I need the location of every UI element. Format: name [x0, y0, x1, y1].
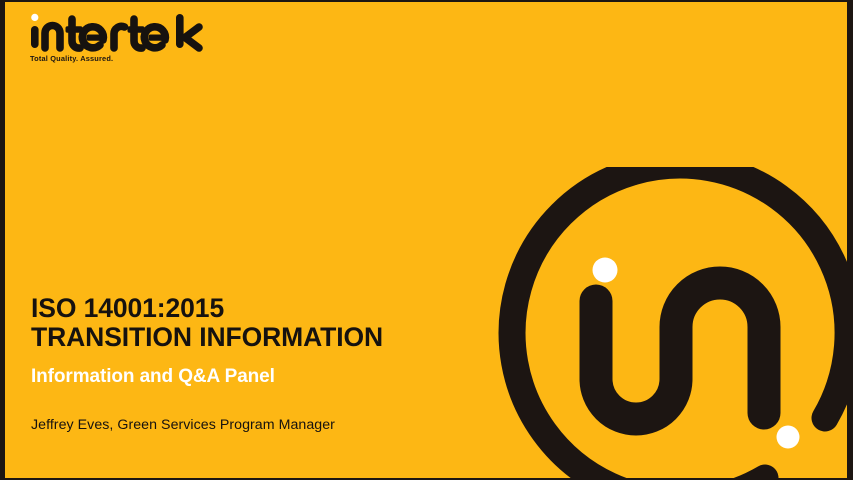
slide-presenter: Jeffrey Eves, Green Services Program Man… [31, 417, 335, 433]
circle-ring [512, 167, 848, 480]
monogram-in [596, 283, 764, 419]
presentation-slide: Total Quality. Assured. ISO 14001:2015 T… [0, 0, 853, 480]
brand-logo: Total Quality. Assured. [28, 10, 248, 76]
brand-tagline: Total Quality. Assured. [30, 54, 113, 63]
monogram-dot-lower [777, 426, 800, 449]
slide-title-line1: ISO 14001:2015 [31, 293, 224, 323]
slide-title: ISO 14001:2015 TRANSITION INFORMATION [31, 294, 383, 352]
slide-subtitle: Information and Q&A Panel [31, 366, 275, 388]
monogram-dot-upper [593, 258, 618, 283]
intertek-wordmark-icon [28, 10, 238, 56]
slide-title-line2: TRANSITION INFORMATION [31, 323, 383, 352]
intertek-circle-monogram-icon [475, 167, 853, 480]
